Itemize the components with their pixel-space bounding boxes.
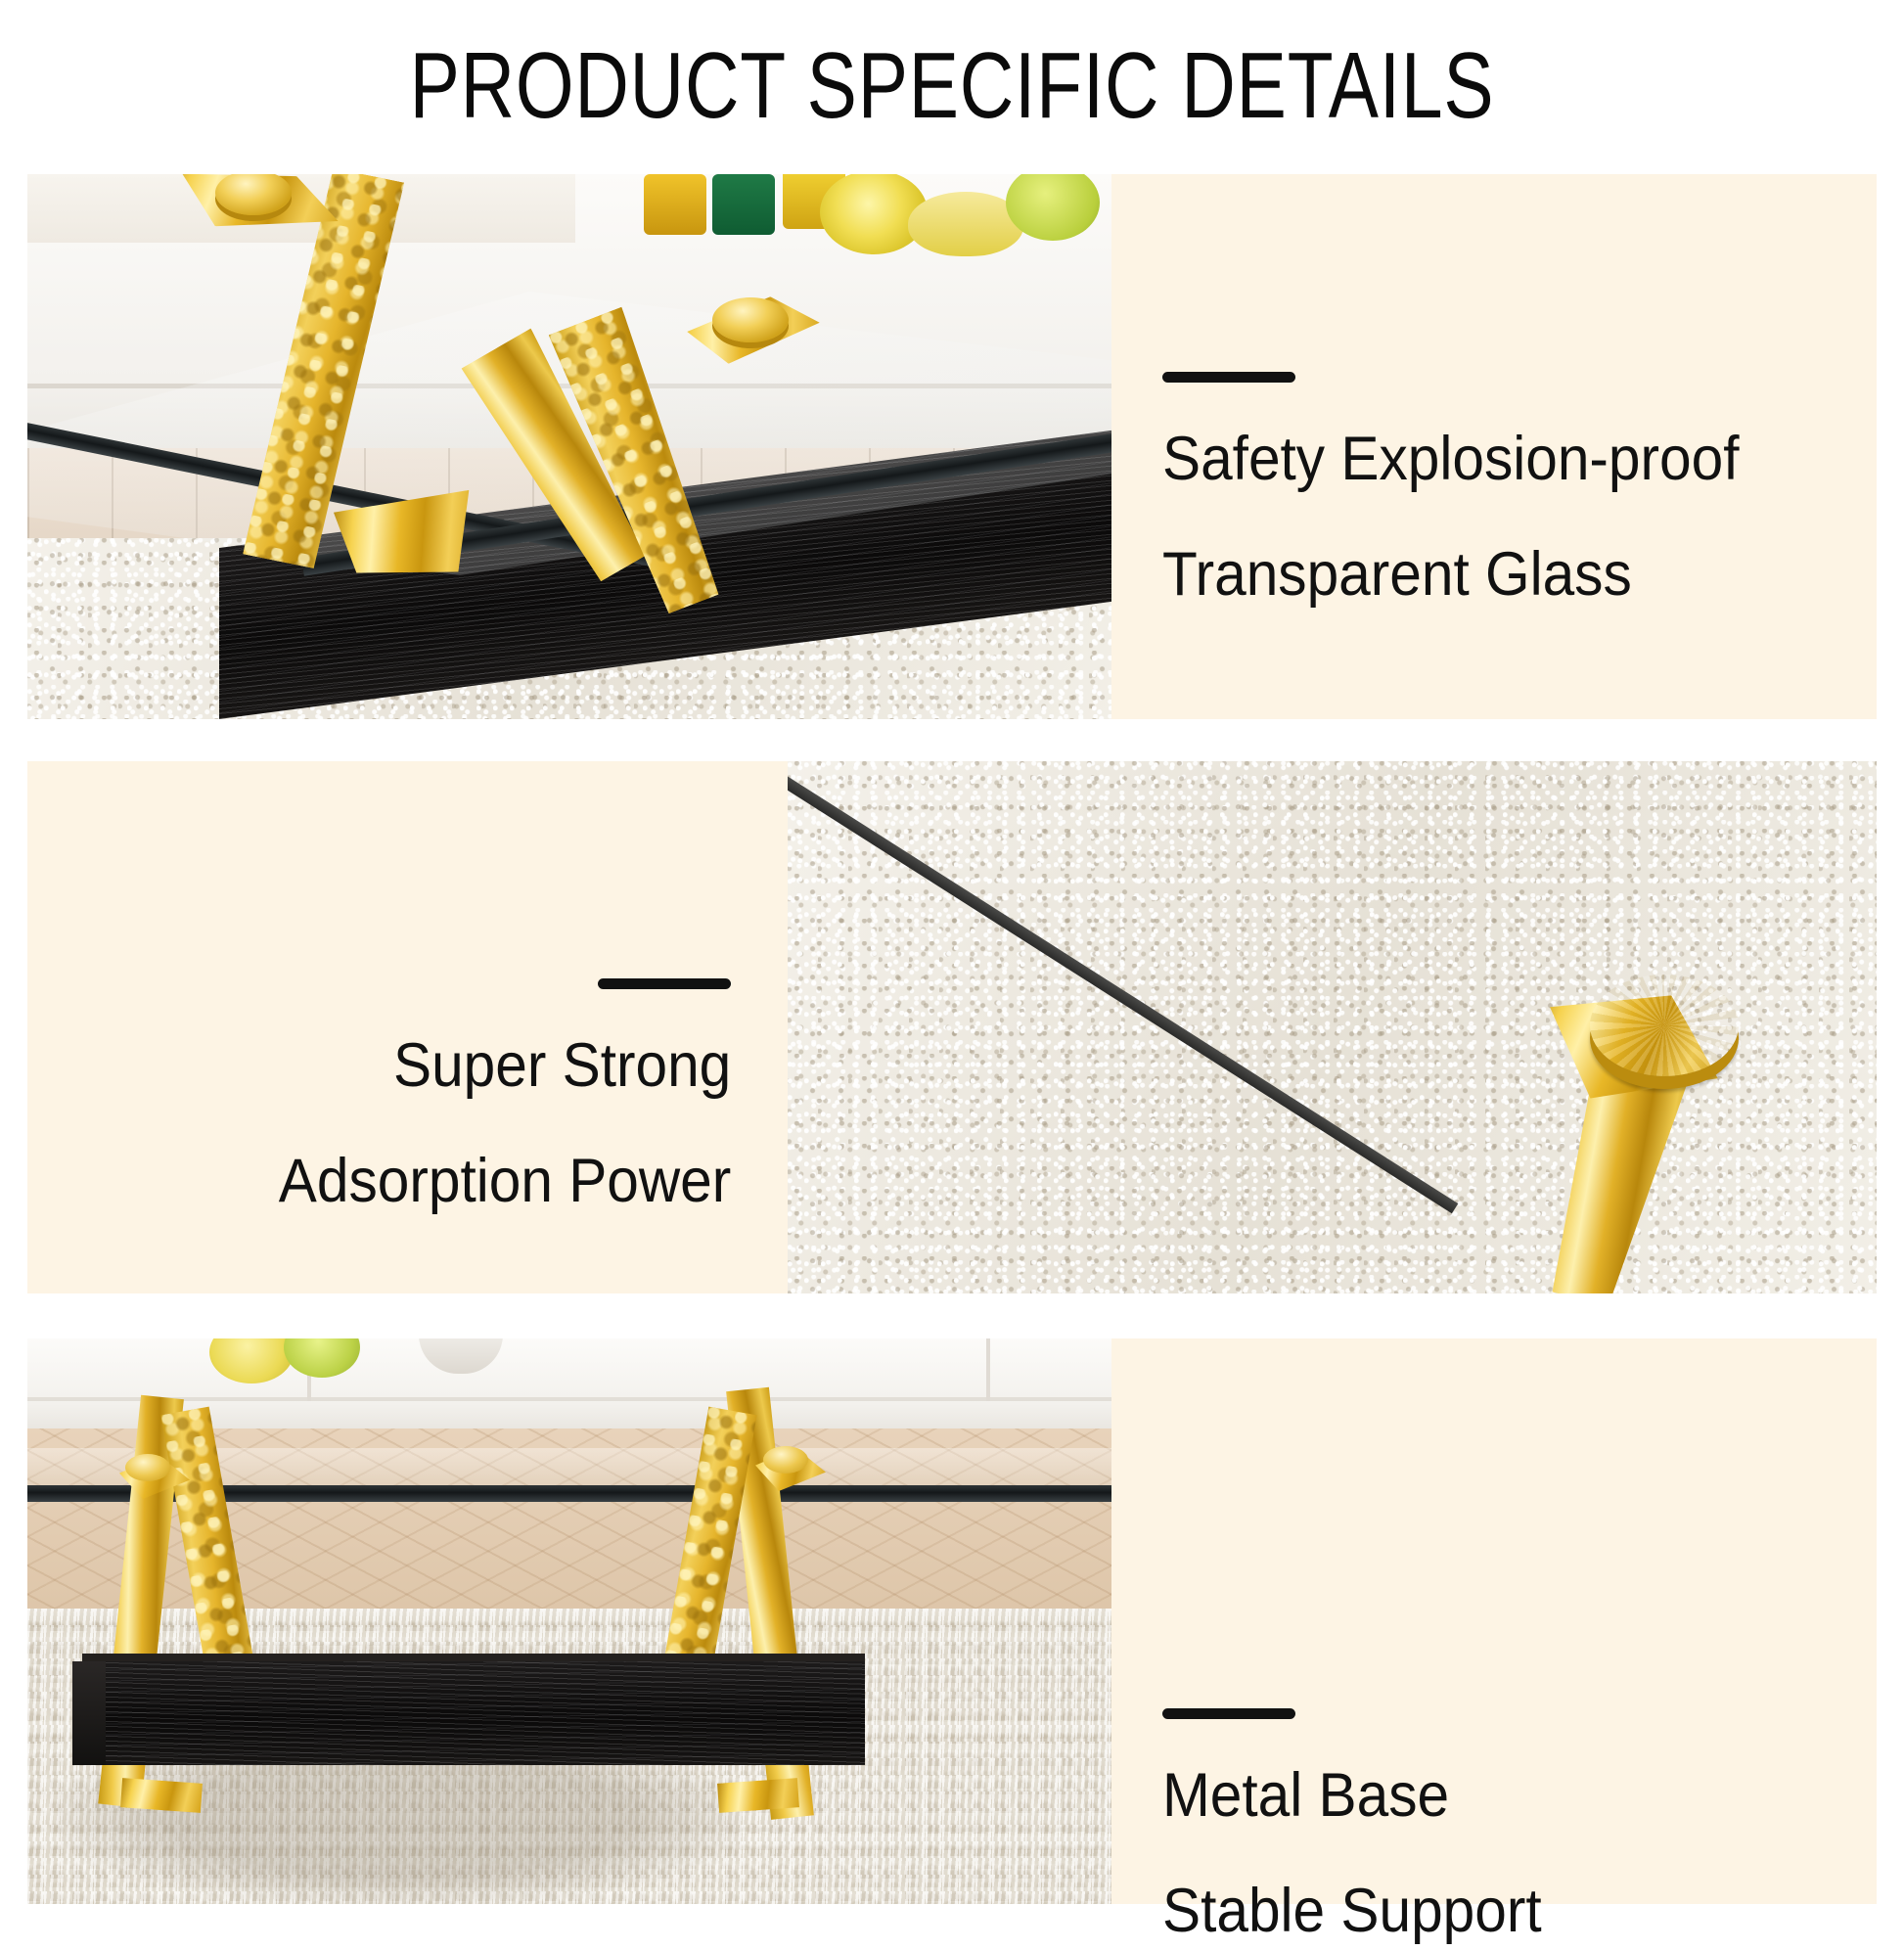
brushed-metal-rays xyxy=(1590,975,1739,1076)
gold-leg-left-foot xyxy=(120,1778,203,1813)
feature-section-metal-base: Metal Base Stable Support xyxy=(27,1338,1877,1904)
caption-line-1: Super Strong xyxy=(279,1026,731,1105)
caption-line-1: Metal Base xyxy=(1162,1756,1542,1835)
product-photo-metal-base xyxy=(27,1338,1111,1904)
caption-line-2: Stable Support xyxy=(1162,1872,1542,1950)
caption-line-2: Transparent Glass xyxy=(1162,535,1739,613)
gold-suction-disc-right xyxy=(712,297,789,342)
caption-line-2: Adsorption Power xyxy=(279,1142,731,1220)
caption-panel-safety-glass: Safety Explosion-proof Transparent Glass xyxy=(1111,174,1877,719)
caption-block: Super Strong Adsorption Power xyxy=(245,978,731,1220)
page-title: PRODUCT SPECIFIC DETAILS xyxy=(191,37,1714,135)
feature-section-safety-glass: Safety Explosion-proof Transparent Glass xyxy=(27,174,1877,719)
product-photo-glass-tabletop xyxy=(27,174,1111,719)
caption-line-1: Safety Explosion-proof xyxy=(1162,420,1739,498)
caption-block: Safety Explosion-proof Transparent Glass xyxy=(1162,372,1783,613)
black-wood-beam-end-cap xyxy=(72,1661,106,1765)
decor-jar-gold xyxy=(644,174,706,235)
decor-jar-green xyxy=(712,174,775,235)
product-photo-suction-bracket xyxy=(788,761,1877,1293)
horizontal-dash-rule-icon xyxy=(598,978,731,989)
black-wood-beam xyxy=(82,1661,865,1765)
gold-leg-right-foot xyxy=(717,1778,799,1813)
gold-suction-disc-left xyxy=(125,1454,170,1481)
cabinet-panel-seam xyxy=(27,1397,1111,1401)
gold-suction-disc-right xyxy=(763,1446,808,1474)
caption-block: Metal Base Stable Support xyxy=(1162,1708,1570,1950)
feature-section-adsorption-power: Super Strong Adsorption Power xyxy=(27,761,1877,1293)
horizontal-dash-rule-icon xyxy=(1162,1708,1295,1719)
horizontal-dash-rule-icon xyxy=(1162,372,1295,383)
cabinet-drawer-seam-right xyxy=(986,1338,990,1401)
caption-panel-metal-base: Metal Base Stable Support xyxy=(1111,1338,1877,1904)
caption-panel-adsorption-power: Super Strong Adsorption Power xyxy=(27,761,788,1293)
